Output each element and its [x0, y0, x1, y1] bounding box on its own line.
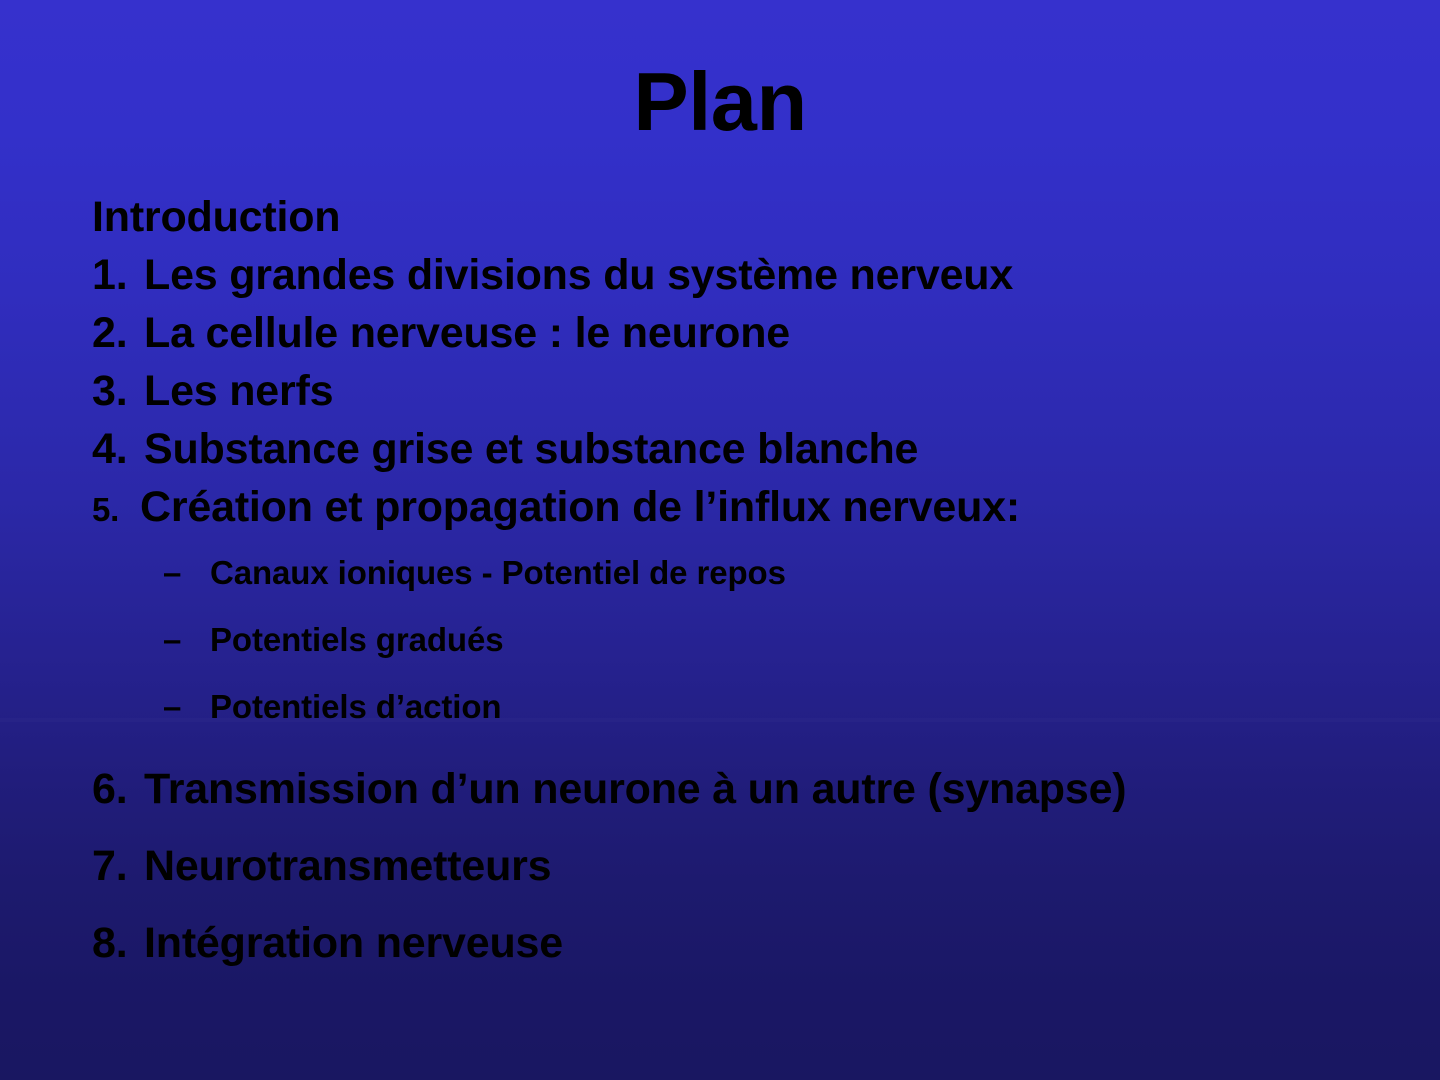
- list-item: – Potentiels gradués: [92, 606, 1382, 673]
- list-item-marker: 2.: [92, 304, 144, 362]
- list-item: Introduction: [92, 188, 1382, 246]
- list-item-label: Introduction: [92, 188, 340, 246]
- list-item-marker: 1.: [92, 246, 144, 304]
- list-item-label: La cellule nerveuse : le neurone: [144, 304, 790, 362]
- list-item: 3. Les nerfs: [92, 362, 1382, 420]
- list-item-label: Transmission d’un neurone à un autre (sy…: [144, 751, 1126, 828]
- list-item-marker: 4.: [92, 420, 144, 478]
- list-item-label: Canaux ioniques - Potentiel de repos: [210, 539, 786, 606]
- list-item-dash-marker: –: [163, 673, 210, 740]
- list-item-marker: 3.: [92, 362, 144, 420]
- list-item: 1. Les grandes divisions du système nerv…: [92, 246, 1382, 304]
- list-item-label: Neurotransmetteurs: [144, 828, 551, 905]
- list-item-label: Substance grise et substance blanche: [144, 420, 918, 478]
- presentation-slide: Plan Introduction 1. Les grandes divisio…: [0, 0, 1440, 1080]
- list-item-label: Les grandes divisions du système nerveux: [144, 246, 1013, 304]
- outline-list: Introduction 1. Les grandes divisions du…: [92, 188, 1382, 982]
- list-item-label: Les nerfs: [144, 362, 333, 420]
- list-item: – Canaux ioniques - Potentiel de repos: [92, 539, 1382, 606]
- list-item: 6. Transmission d’un neurone à un autre …: [92, 751, 1382, 828]
- page-title: Plan: [0, 58, 1440, 145]
- list-item-dash-marker: –: [163, 539, 210, 606]
- list-item-label: Intégration nerveuse: [144, 905, 563, 982]
- list-item-marker: 8.: [92, 905, 144, 982]
- list-item-marker: 5.: [92, 481, 140, 539]
- list-item: 7. Neurotransmetteurs: [92, 828, 1382, 905]
- list-item-label: Création et propagation de l’influx nerv…: [140, 478, 1020, 536]
- list-item-label: Potentiels gradués: [210, 606, 503, 673]
- outline-spacer: [92, 740, 1382, 751]
- list-item: 8. Intégration nerveuse: [92, 905, 1382, 982]
- list-item: 4. Substance grise et substance blanche: [92, 420, 1382, 478]
- list-item-marker: 6.: [92, 751, 144, 828]
- list-item: 2. La cellule nerveuse : le neurone: [92, 304, 1382, 362]
- list-item: 5. Création et propagation de l’influx n…: [92, 478, 1382, 539]
- list-item-marker: 7.: [92, 828, 144, 905]
- list-item: – Potentiels d’action: [92, 673, 1382, 740]
- list-item-label: Potentiels d’action: [210, 673, 501, 740]
- list-item-dash-marker: –: [163, 606, 210, 673]
